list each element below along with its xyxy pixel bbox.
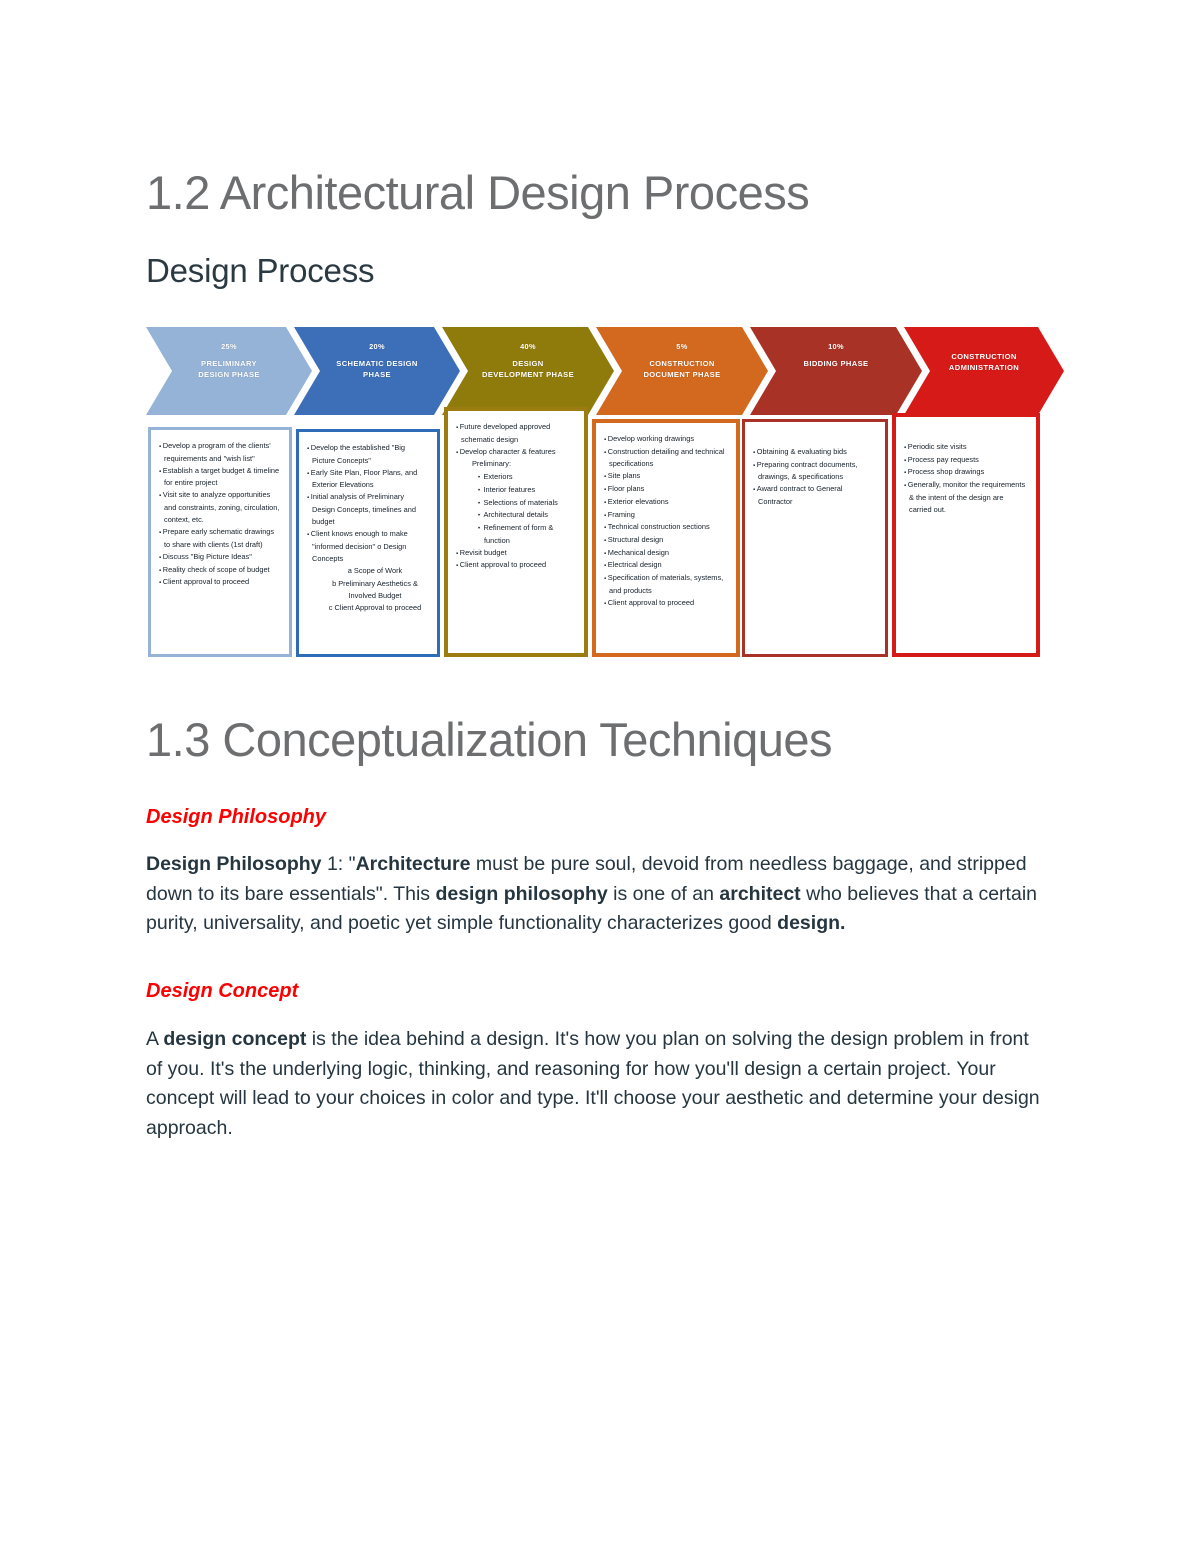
chevron-phase-construction-document: 5% CONSTRUCTION DOCUMENT PHASE: [596, 327, 768, 415]
chevron-phase-name-line1: DESIGN: [512, 358, 543, 369]
chevron-arrow-row: 25% PRELIMINARY DESIGN PHASE 20% SCHEMAT…: [146, 327, 1064, 415]
chevron-phase-name-line1: BIDDING PHASE: [804, 358, 869, 369]
list-item: Process shop drawings: [904, 466, 1028, 479]
sub-list-item: Selections of materials: [478, 497, 576, 510]
list-item: Client approval to proceed: [159, 576, 281, 589]
sub-list-item: Interior features: [478, 484, 576, 497]
list-item: Visit site to analyze opportunities and …: [159, 489, 281, 526]
bold-text: design.: [777, 912, 845, 934]
list-item: Specification of materials, systems, and…: [604, 572, 728, 597]
chevron-percent-label: 20%: [369, 342, 385, 351]
chevron-phase-schematic-design: 20% SCHEMATIC DESIGN PHASE: [294, 327, 460, 415]
sub-list-item: b Preliminary Aesthetics & Involved Budg…: [321, 578, 429, 603]
list-item: Develop a program of the clients' requir…: [159, 440, 281, 465]
chevron-phase-design-development: 40% DESIGN DEVELOPMENT PHASE: [442, 327, 614, 415]
chevron-phase-name-line1: PRELIMINARY: [201, 358, 257, 369]
paragraph-design-concept: A design concept is the idea behind a de…: [146, 1025, 1046, 1144]
document-page: 1.2 Architectural Design Process Design …: [0, 0, 1200, 1553]
phase-detail-box-design-development: Future developed approved schematic desi…: [444, 407, 588, 657]
page-title-section-1-2: 1.2 Architectural Design Process: [146, 168, 809, 218]
phase-detail-box-construction-document: Develop working drawings Construction de…: [592, 419, 740, 657]
list-item: Exterior elevations: [604, 496, 728, 509]
phase-item-list: Future developed approved schematic desi…: [456, 421, 576, 572]
phase-item-list: Develop a program of the clients' requir…: [159, 440, 281, 589]
phase-item-list: Periodic site visits Process pay request…: [904, 441, 1028, 516]
sub-list-item: Architectural details: [478, 509, 576, 522]
list-item: Framing: [604, 509, 728, 522]
heading-design-philosophy: Design Philosophy: [146, 806, 326, 829]
subheading-design-process: Design Process: [146, 253, 374, 289]
list-item: Electrical design: [604, 559, 728, 572]
bold-text: architect: [719, 883, 800, 905]
list-item: Future developed approved schematic desi…: [456, 421, 576, 446]
text: 1: ": [322, 853, 356, 875]
list-item: Client knows enough to make "informed de…: [307, 528, 429, 565]
chevron-percent-label: 40%: [520, 342, 536, 351]
heading-design-concept: Design Concept: [146, 980, 298, 1003]
list-item: Revisit budget: [456, 547, 576, 560]
sub-list-item: Exteriors: [478, 471, 576, 484]
paragraph-design-philosophy: Design Philosophy 1: "Architecture must …: [146, 850, 1046, 939]
chevron-phase-preliminary-design: 25% PRELIMINARY DESIGN PHASE: [146, 327, 312, 415]
sub-list-item: c Client Approval to proceed: [321, 602, 429, 615]
phase-detail-box-schematic-design: Develop the established "Big Picture Con…: [296, 429, 440, 657]
list-item: Initial analysis of Preliminary Design C…: [307, 491, 429, 528]
phase-detail-box-preliminary-design: Develop a program of the clients' requir…: [148, 427, 292, 657]
sub-list-item: a Scope of Work: [321, 565, 429, 578]
sub-list-label: Preliminary:: [472, 458, 576, 471]
list-item: Establish a target budget & timeline for…: [159, 465, 281, 490]
list-item: Construction detailing and technical spe…: [604, 446, 728, 471]
list-item: Floor plans: [604, 483, 728, 496]
chevron-percent-label: 25%: [221, 342, 237, 351]
chevron-phase-name-line1: SCHEMATIC DESIGN: [336, 358, 417, 369]
phase-item-list: Develop working drawings Construction de…: [604, 433, 728, 610]
chevron-phase-bidding: 10% BIDDING PHASE: [750, 327, 922, 415]
text: A: [146, 1028, 163, 1050]
chevron-phase-construction-administration: CONSTRUCTION ADMINISTRATION: [904, 327, 1064, 415]
bold-text: design philosophy: [435, 883, 607, 905]
list-item: Prepare early schematic drawings to shar…: [159, 526, 281, 551]
chevron-phase-name-line1: CONSTRUCTION: [649, 358, 714, 369]
design-process-diagram: 25% PRELIMINARY DESIGN PHASE 20% SCHEMAT…: [146, 327, 1064, 682]
text: is one of an: [608, 883, 720, 905]
list-item: Award contract to General Contractor: [753, 483, 877, 508]
chevron-phase-name-line2: DEVELOPMENT PHASE: [482, 369, 574, 380]
list-item: Technical construction sections: [604, 521, 728, 534]
phase-item-list: Develop the established "Big Picture Con…: [307, 442, 429, 615]
bold-text: Design Philosophy: [146, 853, 322, 875]
list-item: Structural design: [604, 534, 728, 547]
phase-detail-box-bidding: Obtaining & evaluating bids Preparing co…: [742, 419, 888, 657]
chevron-percent-label: 10%: [828, 342, 844, 351]
chevron-phase-name-line2: DESIGN PHASE: [198, 369, 260, 380]
list-item: Reality check of scope of budget: [159, 564, 281, 577]
phase-detail-box-construction-administration: Periodic site visits Process pay request…: [892, 413, 1040, 657]
chevron-phase-name-line2: ADMINISTRATION: [949, 362, 1019, 373]
page-title-section-1-3: 1.3 Conceptualization Techniques: [146, 715, 832, 765]
list-item: Mechanical design: [604, 547, 728, 560]
chevron-phase-name-line2: PHASE: [363, 369, 391, 380]
list-item: Generally, monitor the requirements & th…: [904, 479, 1028, 516]
sub-list-item: Refinement of form & function: [478, 522, 576, 547]
list-item: Client approval to proceed: [604, 597, 728, 610]
bold-text: Architecture: [356, 853, 471, 875]
phase-item-list: Obtaining & evaluating bids Preparing co…: [753, 446, 877, 508]
list-item: Discuss "Big Picture Ideas": [159, 551, 281, 564]
list-item: Site plans: [604, 470, 728, 483]
list-item: Obtaining & evaluating bids: [753, 446, 877, 459]
list-item: Periodic site visits: [904, 441, 1028, 454]
list-item: Client approval to proceed: [456, 559, 576, 572]
list-item: Preparing contract documents, drawings, …: [753, 459, 877, 484]
list-item: Early Site Plan, Floor Plans, and Exteri…: [307, 467, 429, 492]
list-item: Develop character & features: [456, 446, 576, 459]
list-item: Develop working drawings: [604, 433, 728, 446]
bold-text: design concept: [163, 1028, 306, 1050]
list-item: Develop the established "Big Picture Con…: [307, 442, 429, 467]
chevron-percent-label: 5%: [676, 342, 687, 351]
list-item: Process pay requests: [904, 454, 1028, 467]
chevron-phase-name-line2: DOCUMENT PHASE: [643, 369, 720, 380]
chevron-phase-name-line1: CONSTRUCTION: [951, 351, 1016, 362]
